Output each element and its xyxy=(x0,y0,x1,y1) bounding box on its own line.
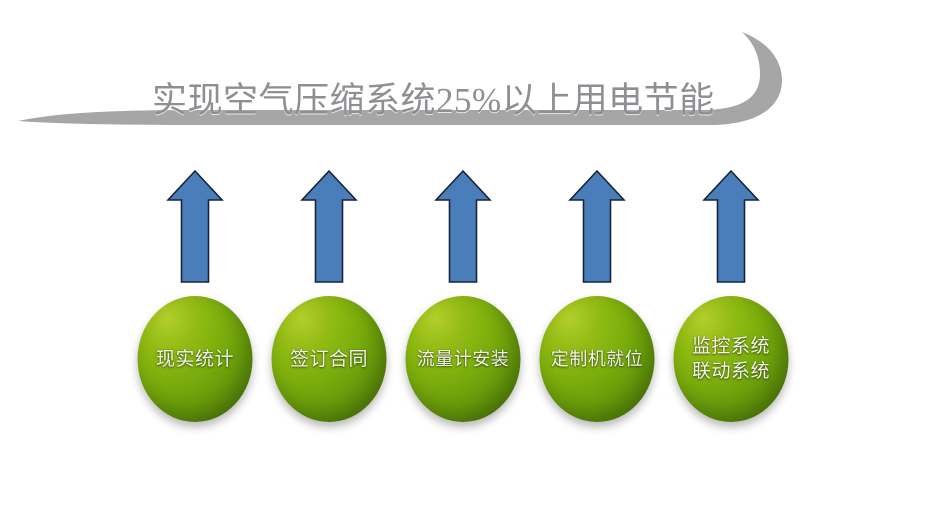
step-circle[interactable]: 签订合同 xyxy=(272,296,387,422)
step-circle[interactable]: 监控系统 联动系统 xyxy=(674,296,789,422)
process-step-4[interactable]: 定制机就位 xyxy=(530,168,664,428)
arrow-up-icon xyxy=(299,168,359,286)
step-label: 监控系统 联动系统 xyxy=(674,334,789,384)
arrow-up-icon xyxy=(165,168,225,286)
step-circle[interactable]: 现实统计 xyxy=(138,296,253,422)
step-circle[interactable]: 定制机就位 xyxy=(540,296,655,422)
arrow-up-icon xyxy=(567,168,627,286)
process-step-1[interactable]: 现实统计 xyxy=(128,168,262,428)
process-steps: 现实统计 签订合同 流量计安装 xyxy=(0,0,945,529)
arrow-up-icon xyxy=(701,168,761,286)
step-label: 现实统计 xyxy=(138,347,253,372)
step-label: 流量计安装 xyxy=(406,347,521,372)
process-step-5[interactable]: 监控系统 联动系统 xyxy=(664,168,798,428)
slide-canvas: 实现空气压缩系统25%以上用电节能 现实统计 签订合同 xyxy=(0,0,945,529)
step-circle[interactable]: 流量计安装 xyxy=(406,296,521,422)
process-step-3[interactable]: 流量计安装 xyxy=(396,168,530,428)
step-label: 定制机就位 xyxy=(540,347,655,372)
process-step-2[interactable]: 签订合同 xyxy=(262,168,396,428)
arrow-up-icon xyxy=(433,168,493,286)
step-label: 签订合同 xyxy=(272,347,387,372)
